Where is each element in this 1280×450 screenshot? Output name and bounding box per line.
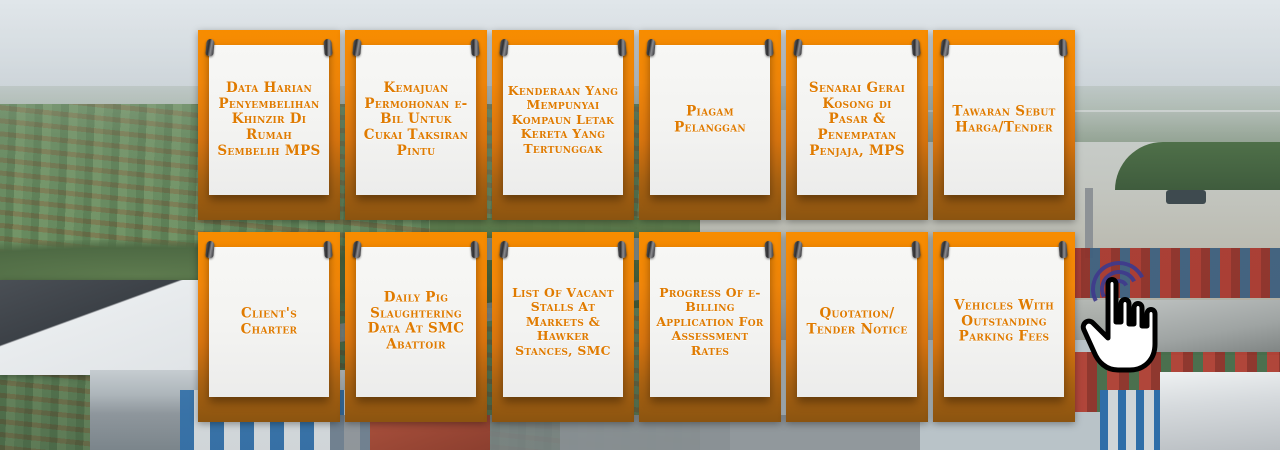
card-title: Daily Pig Slaughtering Data At SMC Abatt…: [360, 291, 472, 354]
card-title: Tawaran Sebut Harga/Tender: [948, 104, 1060, 135]
card-title: Vehicles With Outstanding Parking Fees: [948, 299, 1060, 346]
card-title: Progress Of e-Billing Application For As…: [654, 286, 766, 358]
card-paper: Progress Of e-Billing Application For As…: [650, 247, 770, 397]
card-paper: Client's Charter: [209, 247, 329, 397]
paper-clip-icon: [793, 39, 802, 57]
card-title: Quotation/ Tender Notice: [801, 306, 913, 337]
dataset-card-grid: Data Harian Penyembelihan Khinzir Di Rum…: [198, 30, 1082, 422]
dataset-card[interactable]: Data Harian Penyembelihan Khinzir Di Rum…: [198, 30, 340, 220]
paper-clip-icon: [911, 39, 920, 57]
page-stage: Data Harian Penyembelihan Khinzir Di Rum…: [0, 0, 1280, 450]
card-paper: List Of Vacant Stalls At Markets & Hawke…: [503, 247, 623, 397]
card-title: List Of Vacant Stalls At Markets & Hawke…: [507, 286, 619, 358]
dataset-card[interactable]: Daily Pig Slaughtering Data At SMC Abatt…: [345, 232, 487, 422]
card-paper: Tawaran Sebut Harga/Tender: [944, 45, 1064, 195]
dataset-card[interactable]: Kenderaan Yang Mempunyai Kompaun Letak K…: [492, 30, 634, 220]
paper-clip-icon: [499, 241, 508, 259]
paper-clip-icon: [470, 241, 479, 259]
paper-clip-icon: [617, 39, 626, 57]
card-paper: Kemajuan Permohonan e-Bil Untuk Cukai Ta…: [356, 45, 476, 195]
dataset-card[interactable]: Quotation/ Tender Notice: [786, 232, 928, 422]
dataset-card[interactable]: Progress Of e-Billing Application For As…: [639, 232, 781, 422]
card-paper: Quotation/ Tender Notice: [797, 247, 917, 397]
paper-clip-icon: [617, 241, 626, 259]
paper-clip-icon: [352, 39, 361, 57]
paper-clip-icon: [470, 39, 479, 57]
card-paper: Daily Pig Slaughtering Data At SMC Abatt…: [356, 247, 476, 397]
card-paper: Senarai Gerai Kosong di Pasar & Penempat…: [797, 45, 917, 195]
paper-clip-icon: [940, 39, 949, 57]
paper-clip-icon: [352, 241, 361, 259]
card-row-bottom: Client's Charter Daily Pig Slaughtering …: [198, 232, 1082, 422]
paper-clip-icon: [793, 241, 802, 259]
dataset-card[interactable]: Vehicles With Outstanding Parking Fees: [933, 232, 1075, 422]
paper-clip-icon: [646, 39, 655, 57]
paper-clip-icon: [205, 241, 214, 259]
dataset-card[interactable]: Kemajuan Permohonan e-Bil Untuk Cukai Ta…: [345, 30, 487, 220]
card-paper: Piagam Pelanggan: [650, 45, 770, 195]
paper-clip-icon: [1058, 241, 1067, 259]
paper-clip-icon: [911, 241, 920, 259]
paper-clip-icon: [764, 39, 773, 57]
paper-clip-icon: [499, 39, 508, 57]
card-row-top: Data Harian Penyembelihan Khinzir Di Rum…: [198, 30, 1082, 220]
dataset-card[interactable]: Piagam Pelanggan: [639, 30, 781, 220]
card-paper: Data Harian Penyembelihan Khinzir Di Rum…: [209, 45, 329, 195]
dataset-card[interactable]: Tawaran Sebut Harga/Tender: [933, 30, 1075, 220]
paper-clip-icon: [323, 241, 332, 259]
card-title: Kenderaan Yang Mempunyai Kompaun Letak K…: [507, 84, 619, 156]
card-paper: Vehicles With Outstanding Parking Fees: [944, 247, 1064, 397]
paper-clip-icon: [1058, 39, 1067, 57]
dataset-card[interactable]: Senarai Gerai Kosong di Pasar & Penempat…: [786, 30, 928, 220]
card-paper: Kenderaan Yang Mempunyai Kompaun Letak K…: [503, 45, 623, 195]
dataset-card[interactable]: List Of Vacant Stalls At Markets & Hawke…: [492, 232, 634, 422]
card-title: Piagam Pelanggan: [654, 104, 766, 135]
paper-clip-icon: [646, 241, 655, 259]
card-title: Kemajuan Permohonan e-Bil Untuk Cukai Ta…: [360, 81, 472, 159]
paper-clip-icon: [940, 241, 949, 259]
paper-clip-icon: [323, 39, 332, 57]
dataset-card[interactable]: Client's Charter: [198, 232, 340, 422]
paper-clip-icon: [764, 241, 773, 259]
card-title: Senarai Gerai Kosong di Pasar & Penempat…: [801, 81, 913, 159]
card-title: Client's Charter: [213, 306, 325, 337]
paper-clip-icon: [205, 39, 214, 57]
card-title: Data Harian Penyembelihan Khinzir Di Rum…: [213, 81, 325, 159]
